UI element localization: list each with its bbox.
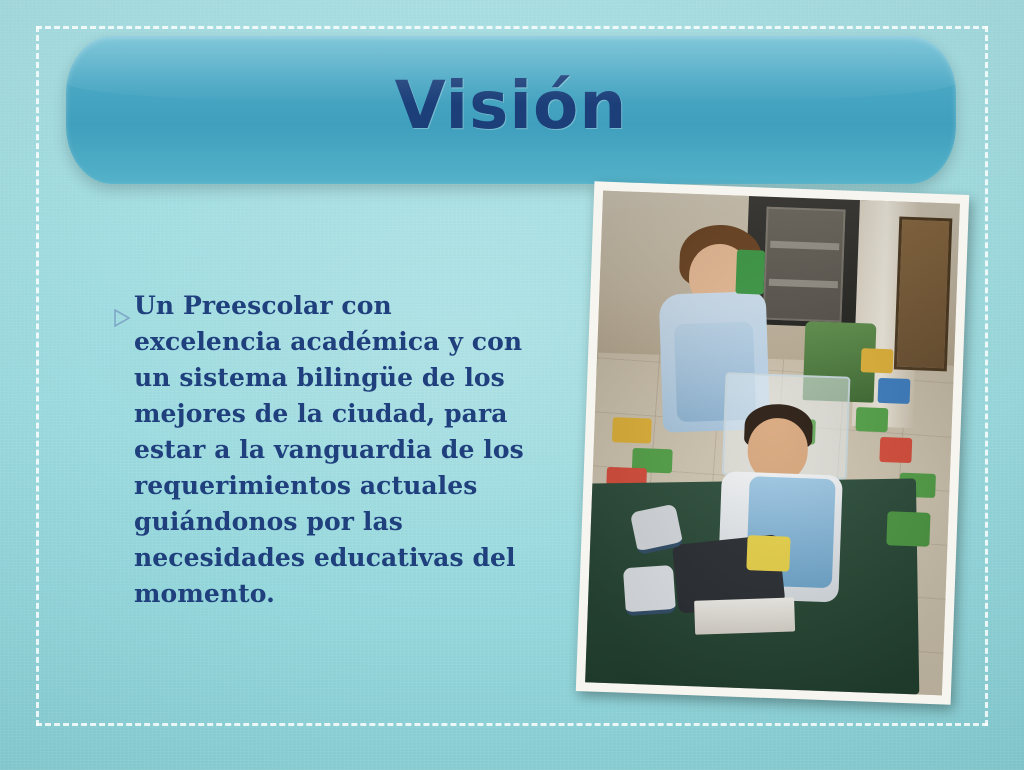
photo-frame: [576, 181, 969, 704]
slide-title: Visión: [66, 70, 956, 142]
title-banner: Visión: [66, 36, 956, 184]
classroom-photo: [585, 191, 960, 696]
presentation-slide: Visión Un Preescolar con excelencia acad…: [0, 0, 1024, 770]
triangle-bullet-icon: [100, 300, 114, 318]
body-paragraph: Un Preescolar con excelencia académica y…: [100, 288, 530, 612]
body-text-block: Un Preescolar con excelencia académica y…: [100, 288, 530, 612]
